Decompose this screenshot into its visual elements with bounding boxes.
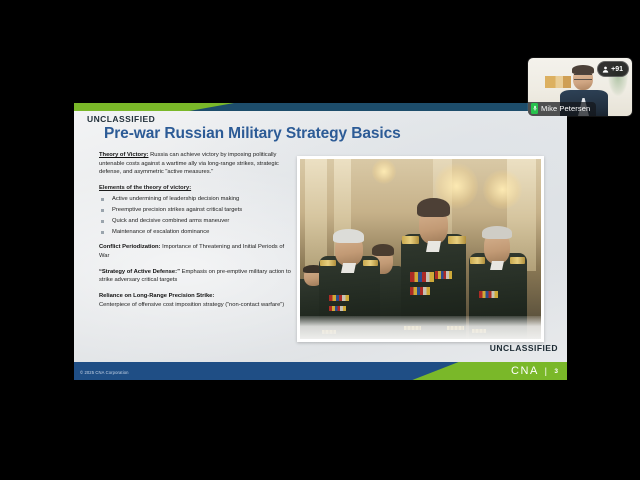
- slide-footer-bar: © 2025 CNA Corporation CNA | 3: [74, 362, 567, 380]
- classification-marking-top: UNCLASSIFIED: [87, 114, 155, 124]
- bullet-text: Active undermining of leadership decisio…: [112, 196, 239, 202]
- copyright-text: © 2025 CNA Corporation: [80, 370, 129, 375]
- paragraph-active-defense: “Strategy of Active Defense:” Emphasis o…: [99, 268, 295, 285]
- theory-of-victory-label: Theory of Victory:: [99, 152, 149, 158]
- background-wall-art: [545, 76, 571, 88]
- list-item: Preemptive precision strikes against cri…: [99, 206, 295, 214]
- bullet-text: Preemptive precision strikes against cri…: [112, 207, 242, 213]
- person-icon: [602, 66, 609, 73]
- list-item: Active undermining of leadership decisio…: [99, 195, 295, 203]
- precision-strike-text: Centerpiece of offensive cost imposition…: [99, 302, 284, 308]
- precision-strike-label: Reliance on Long-Range Precision Strike:: [99, 293, 214, 299]
- bullet-text: Maintenance of escalation dominance: [112, 229, 209, 235]
- slide-body-text: Theory of Victory: Russia can achieve vi…: [99, 151, 295, 316]
- elements-heading: Elements of the theory of victory:: [99, 184, 295, 193]
- glasses-icon: [574, 74, 592, 80]
- speaker-name-label: Mike Petersen: [541, 104, 590, 113]
- cna-logo: CNA: [511, 365, 539, 377]
- participant-overflow-count: +91: [611, 66, 623, 73]
- slide-page-number: 3: [554, 368, 558, 375]
- slide-top-green-wedge: [74, 103, 234, 111]
- slide-photo-russian-officers: [300, 159, 541, 339]
- list-item: Quick and decisive combined arms maneuve…: [99, 217, 295, 225]
- slide-footer-navy-block: [74, 362, 459, 380]
- screen-share-stage: UNCLASSIFIED Pre-war Russian Military St…: [0, 0, 640, 480]
- elements-section: Elements of the theory of victory: Activ…: [99, 184, 295, 236]
- slide-top-accent-bar: [74, 103, 567, 111]
- conflict-periodization-label: Conflict Periodization:: [99, 244, 161, 250]
- speaker-video-tile[interactable]: +91 Mike Petersen: [528, 58, 632, 116]
- speaker-hair: [572, 65, 594, 74]
- paragraph-precision-strike: Reliance on Long-Range Precision Strike:…: [99, 292, 295, 309]
- presentation-slide[interactable]: UNCLASSIFIED Pre-war Russian Military St…: [74, 103, 567, 380]
- footer-separator: |: [545, 366, 547, 376]
- slide-title: Pre-war Russian Military Strategy Basics: [104, 125, 401, 143]
- paragraph-conflict-periodization: Conflict Periodization: Importance of Th…: [99, 243, 295, 260]
- slide-photo-frame: [297, 156, 544, 342]
- photo-foreground-blur: [300, 316, 541, 339]
- elements-bullet-list: Active undermining of leadership decisio…: [99, 195, 295, 236]
- active-defense-label: “Strategy of Active Defense:”: [99, 269, 180, 275]
- paragraph-theory-of-victory: Theory of Victory: Russia can achieve vi…: [99, 151, 295, 177]
- participant-count-badge[interactable]: +91: [597, 61, 629, 77]
- speaker-name-plate: Mike Petersen: [528, 102, 596, 117]
- classification-marking-bottom: UNCLASSIFIED: [490, 343, 558, 353]
- bullet-text: Quick and decisive combined arms maneuve…: [112, 218, 229, 224]
- microphone-icon[interactable]: [531, 103, 538, 114]
- list-item: Maintenance of escalation dominance: [99, 228, 295, 236]
